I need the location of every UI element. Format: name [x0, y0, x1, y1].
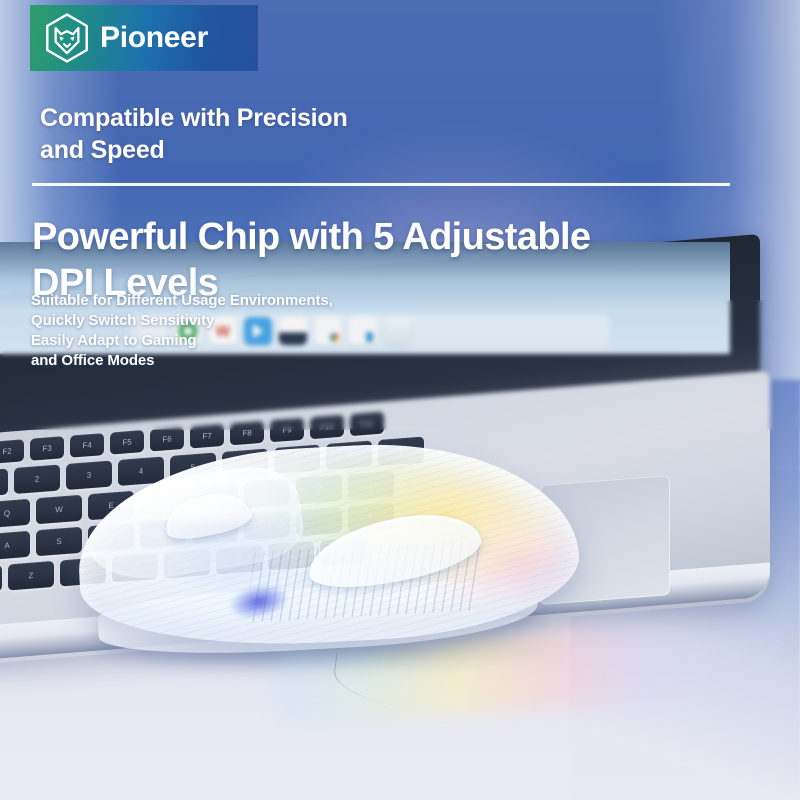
subheading: Compatible with Precision and Speed [40, 103, 348, 166]
divider-rule [32, 183, 730, 186]
text-overlay: Pioneer Compatible with Precision and Sp… [0, 0, 800, 800]
brand-name: Pioneer [100, 23, 208, 53]
feature-text-1: Suitable for Different Usage Environment… [31, 291, 333, 331]
hexagon-wolf-head-icon [44, 13, 90, 63]
brand-logo-banner: Pioneer [30, 5, 258, 71]
feature-text-2: Easily Adapt to Gaming and Office Modes [31, 331, 197, 371]
product-marketing-banner: esc F1 F2 F3 F4 F5 F6 F7 F8 F9 F10 F11 ~… [0, 0, 800, 800]
